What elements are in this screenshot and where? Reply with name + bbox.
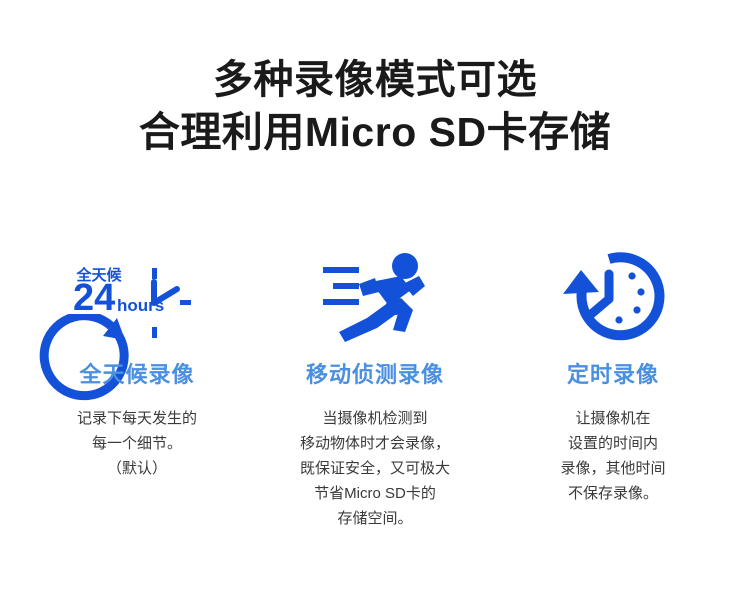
feature-title-motion-detection-recording: 移动侦测录像 [306,360,444,390]
feature-column-scheduled-recording: 定时录像 让摄像机在 设置的时间内 录像，其他时间 不保存录像。 [494,248,732,506]
feature-body-line: 录像，其他时间 [560,456,665,481]
svg-text:24: 24 [73,277,115,319]
running-person-icon [295,248,455,348]
feature-title-scheduled-recording: 定时录像 [567,360,659,390]
page-title: 多种录像模式可选 合理利用Micro SD卡存储 [0,54,750,158]
feature-body-line: 不保存录像。 [560,481,665,506]
feature-body-line: 设置的时间内 [560,431,665,456]
feature-body-line: 移动物体时才会录像， [300,431,450,456]
feature-title-all-day-recording: 全天候录像 [79,360,194,390]
feature-column-motion-detection-recording: 移动侦测录像 当摄像机检测到 移动物体时才会录像， 既保证安全，又可极大 节省M… [256,248,494,531]
feature-columns: 全天候 24 hours 全天候录像 记录下每天发生的 每一个细节。 （默认） [0,248,750,531]
feature-body-line: 节省Micro SD卡的 [300,481,450,506]
feature-body-motion-detection-recording: 当摄像机检测到 移动物体时才会录像， 既保证安全，又可极大 节省Micro SD… [300,406,450,531]
clock-24hours-icon: 全天候 24 hours [57,248,217,348]
feature-body-line: 每一个细节。 [77,431,197,456]
feature-body-line: 记录下每天发生的 [77,406,197,431]
feature-body-line: 既保证安全，又可极大 [300,456,450,481]
feature-body-all-day-recording: 记录下每天发生的 每一个细节。 （默认） [77,406,197,481]
feature-body-scheduled-recording: 让摄像机在 设置的时间内 录像，其他时间 不保存录像。 [560,406,665,506]
svg-text:hours: hours [117,296,164,315]
feature-body-line: 当摄像机检测到 [300,406,450,431]
feature-column-all-day-recording: 全天候 24 hours 全天候录像 记录下每天发生的 每一个细节。 （默认） [18,248,256,481]
feature-body-line: （默认） [77,456,197,481]
timer-clock-arrow-icon [533,248,693,348]
page-title-line-1: 多种录像模式可选 [0,54,750,106]
feature-body-line: 存储空间。 [300,506,450,531]
promo-page: 多种录像模式可选 合理利用Micro SD卡存储 [0,0,750,607]
feature-body-line: 让摄像机在 [560,406,665,431]
page-title-line-2: 合理利用Micro SD卡存储 [0,106,750,158]
